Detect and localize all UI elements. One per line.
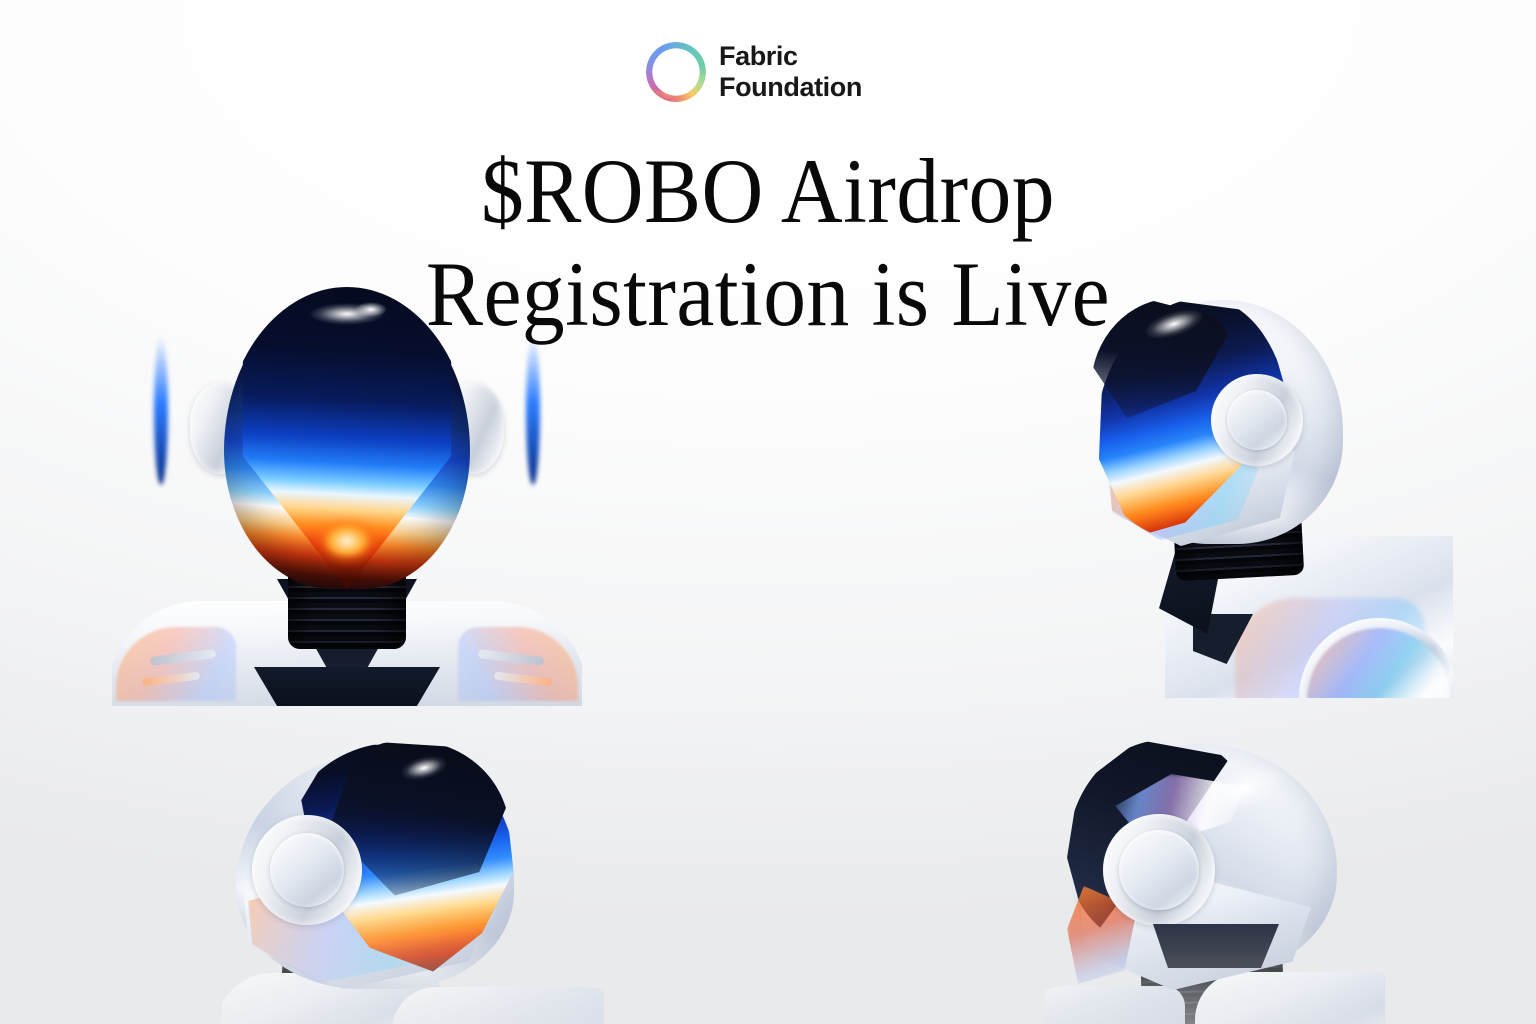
shoulder-right [392,987,604,1024]
brand-wordmark: Fabric Foundation [719,41,862,102]
helmet-rim-light-left [154,335,168,485]
headline-line-2: Registration is Live [54,243,1482,346]
chest-plate [254,667,440,706]
page-title: $ROBO Airdrop Registration is Live [54,140,1482,346]
robot-image-front [112,283,582,706]
promo-banner: Fabric Foundation $ROBO Airdrop Registra… [0,0,1536,1024]
shoulder-left [1045,986,1185,1024]
robot-image-three-quarter [1085,298,1453,698]
fabric-ring-logo-icon [646,42,706,102]
robot-image-rear-three-quarter [1045,736,1385,1024]
helmet-rim-light-right [526,335,540,485]
robot-image-profile [222,735,604,1024]
ear-pod-inner-disc [1119,830,1199,910]
headline-line-1: $ROBO Airdrop [54,140,1482,243]
brand-logo-lockup[interactable]: Fabric Foundation [646,41,862,102]
visor-core-glow [311,515,383,567]
ear-pod-inner-disc [270,833,344,907]
ear-pod-inner-disc [1227,390,1287,450]
shoulder-right [1195,972,1385,1024]
